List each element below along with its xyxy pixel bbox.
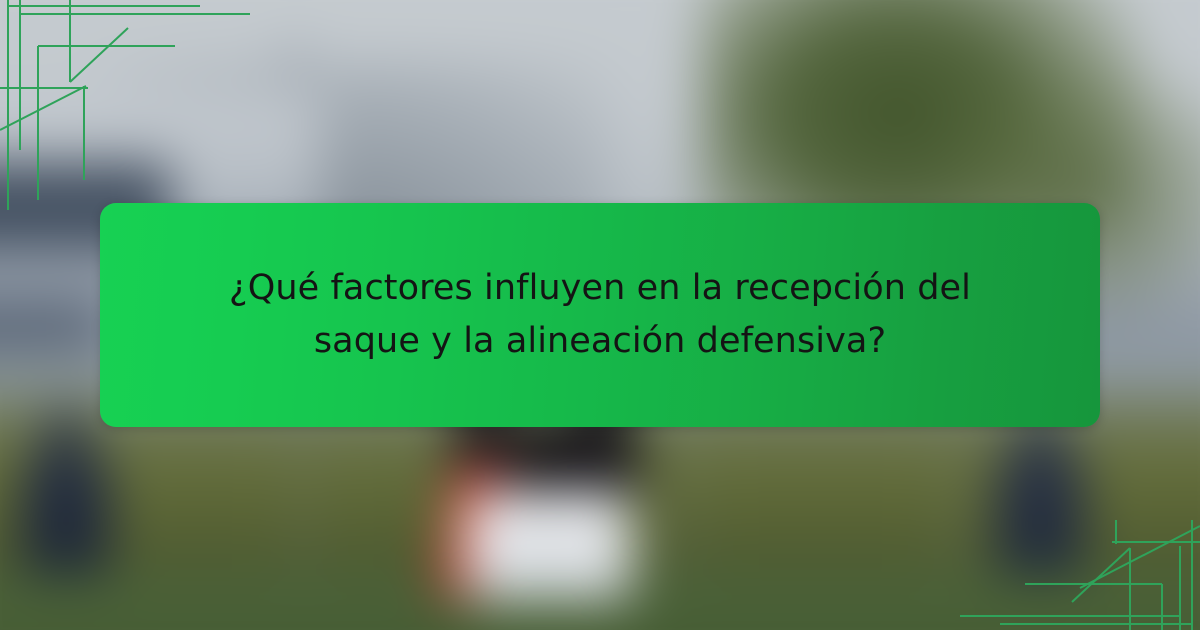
spectator-left-body	[22, 454, 110, 574]
player-torso	[466, 490, 632, 600]
spectator-left	[18, 410, 114, 570]
question-banner: ¿Qué factores influyen en la recepción d…	[100, 203, 1100, 427]
spectator-left-head	[42, 410, 88, 460]
question-text: ¿Qué factores influyen en la recepción d…	[220, 262, 980, 368]
question-card-canvas: ¿Qué factores influyen en la recepción d…	[0, 0, 1200, 630]
spectator-right-body	[996, 452, 1084, 574]
spectator-right	[992, 410, 1088, 570]
